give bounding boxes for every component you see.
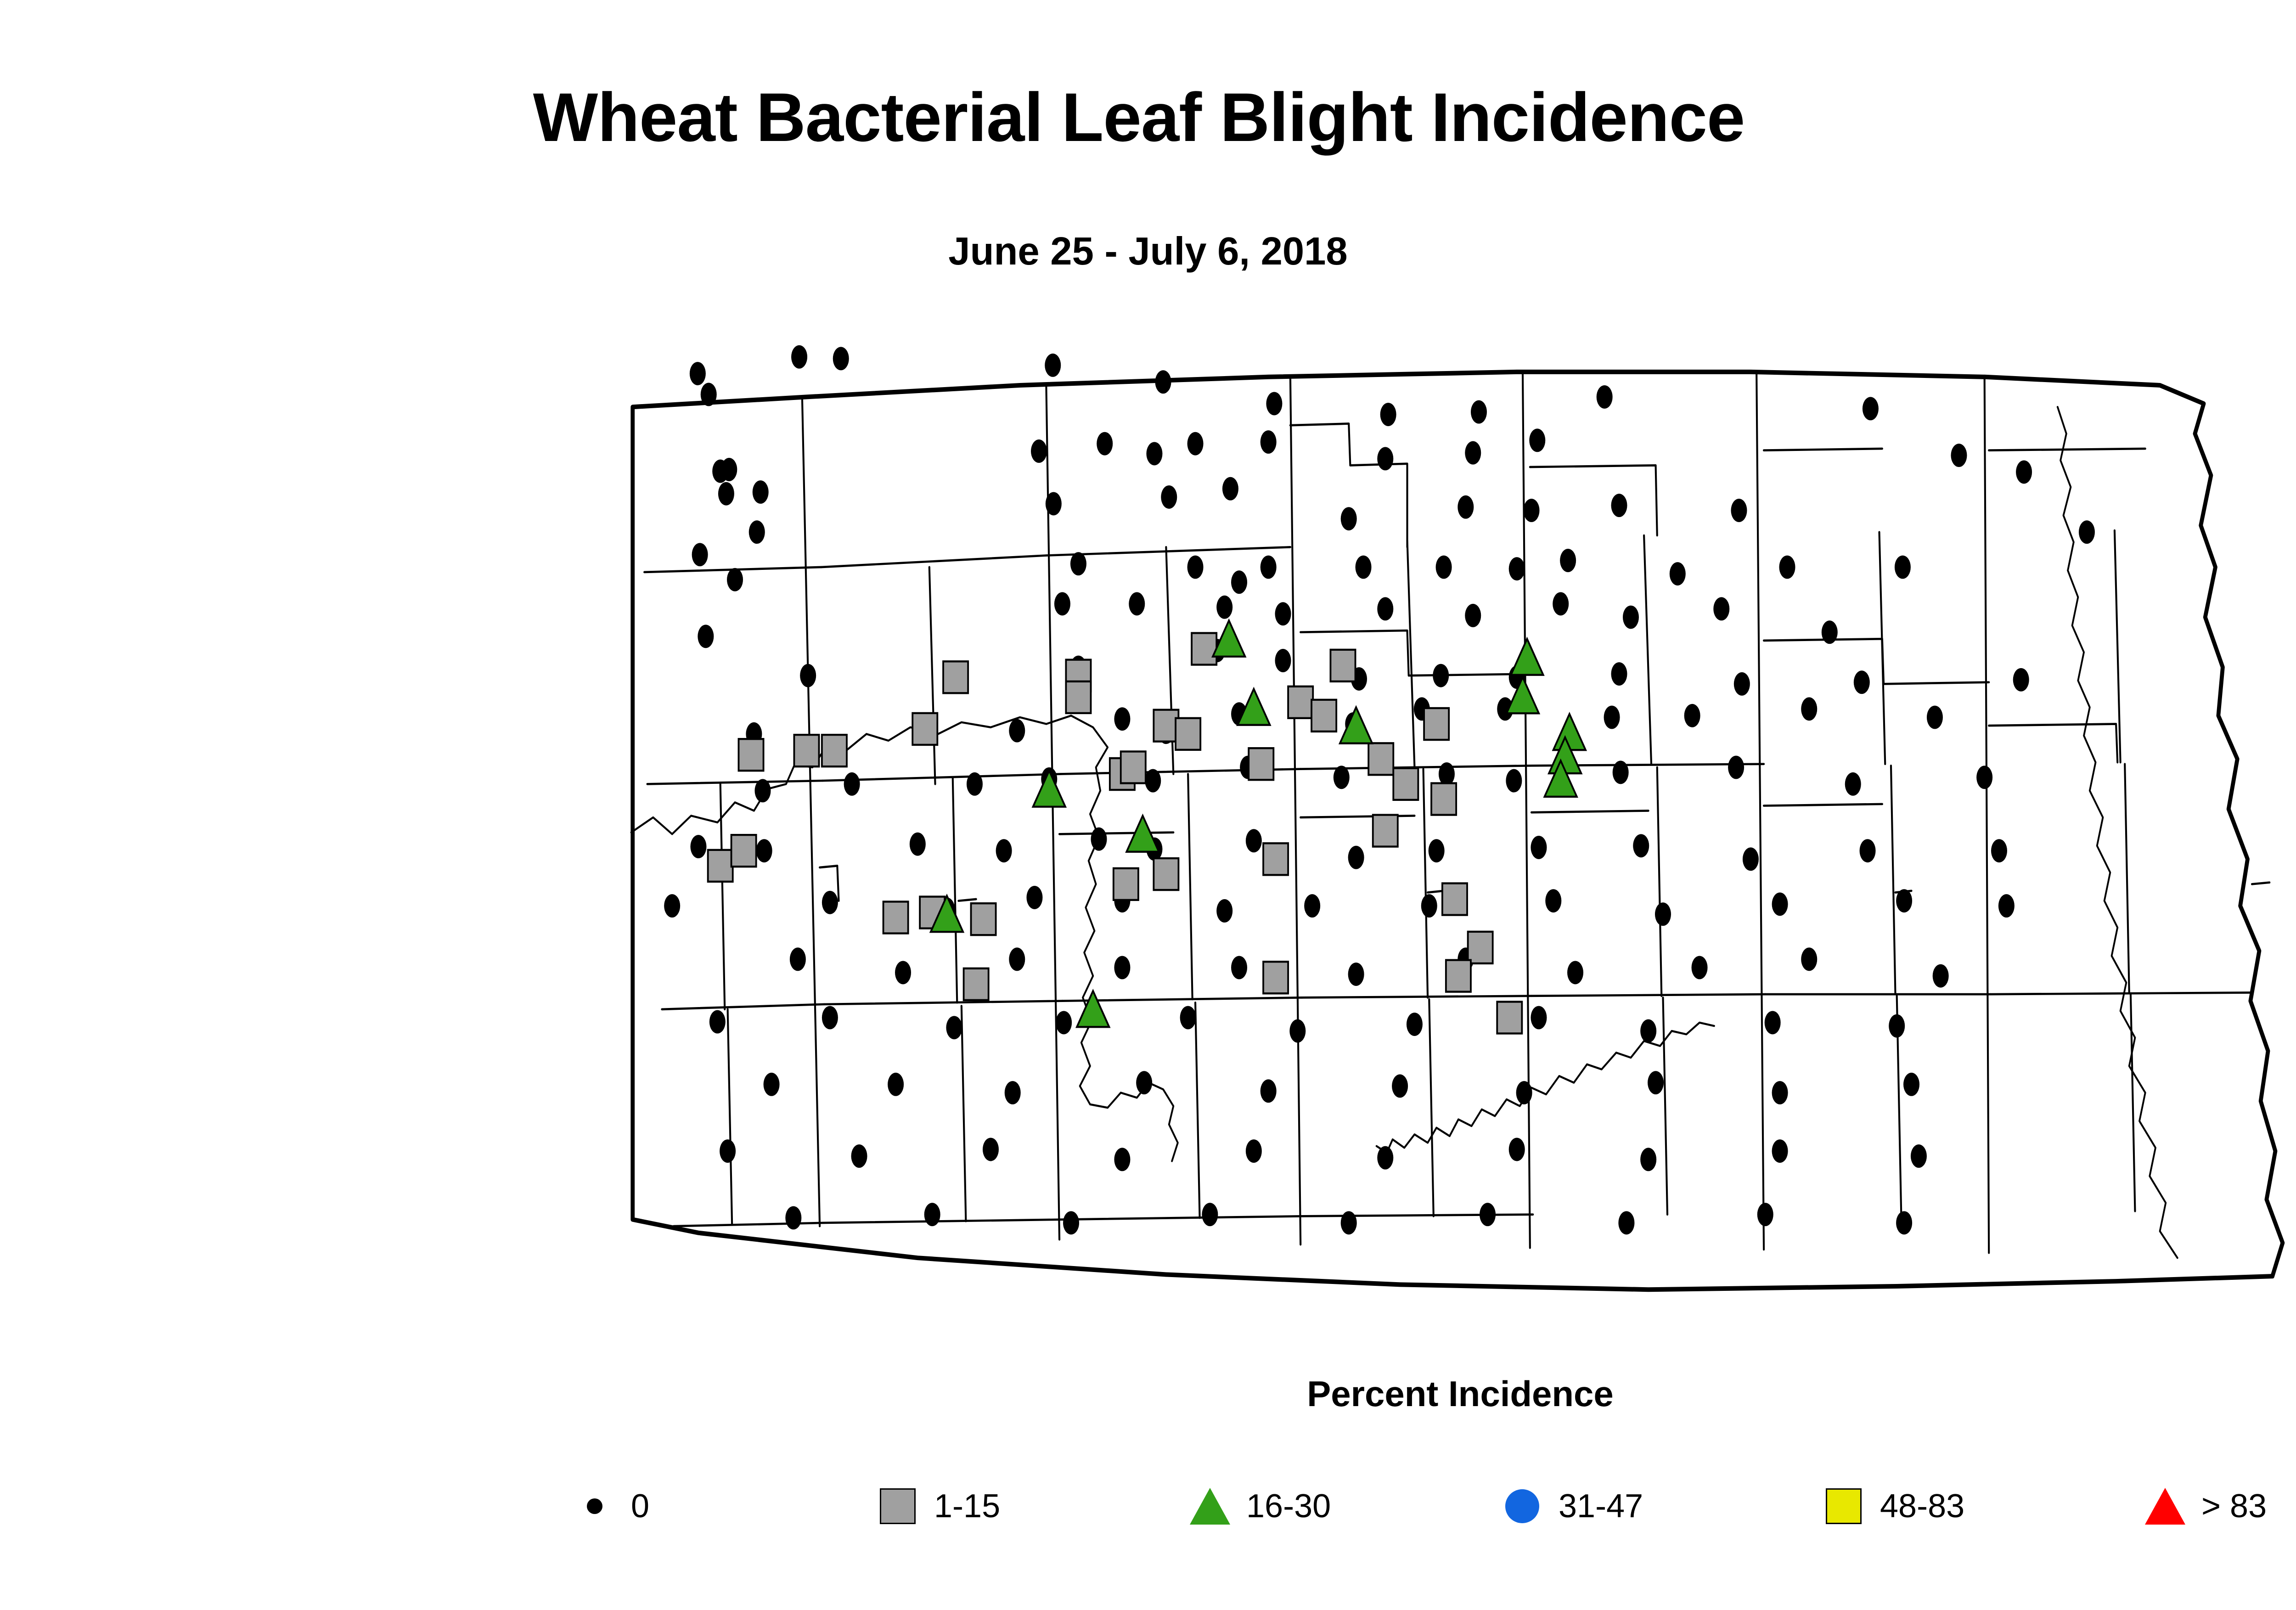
- marker-115-200: [971, 903, 996, 935]
- marker-0-146: [1005, 1081, 1021, 1104]
- marker-0-79: [1684, 704, 1700, 727]
- marker-0-125: [1114, 956, 1130, 980]
- legend-symbol: [1818, 1488, 1869, 1524]
- marker-0-119: [1772, 893, 1788, 916]
- marker-0-88: [1334, 766, 1350, 789]
- marker-115-204: [1263, 962, 1288, 993]
- marker-0-105: [1633, 834, 1649, 857]
- marker-0-44: [1560, 549, 1576, 572]
- marker-0-29: [1222, 477, 1238, 501]
- marker-0-25: [692, 543, 708, 566]
- legend-label: 1-15: [934, 1487, 1000, 1525]
- legend-symbol: [2140, 1488, 2190, 1525]
- marker-0-19: [1261, 430, 1277, 454]
- marker-0-96: [756, 839, 772, 862]
- marker-0-163: [1911, 1144, 1927, 1168]
- marker-0-92: [1728, 756, 1744, 779]
- marker-0-7: [753, 480, 769, 504]
- marker-0-118: [1655, 902, 1671, 926]
- marker-0-140: [1531, 1006, 1547, 1030]
- marker-0-58: [1822, 620, 1838, 644]
- marker-0-153: [1903, 1073, 1919, 1096]
- marker-0-12: [1471, 400, 1487, 424]
- marker-0-134: [822, 1006, 838, 1030]
- marker-0-40: [1261, 556, 1277, 579]
- marker-0-30: [1341, 507, 1357, 530]
- marker-0-97: [910, 833, 926, 856]
- marker-0-121: [1998, 894, 2015, 918]
- marker-0-127: [1348, 963, 1364, 986]
- legend: 01-1516-3031-4748-83> 83: [569, 1465, 2296, 1557]
- marker-115-189: [1249, 748, 1273, 780]
- marker-0-81: [1927, 706, 1943, 729]
- marker-0-39: [1231, 570, 1247, 594]
- marker-0-145: [888, 1073, 904, 1096]
- marker-115-206: [964, 968, 989, 1000]
- legend-circle-icon: [1505, 1489, 1539, 1523]
- marker-0-10: [1266, 392, 1282, 416]
- marker-0-55: [1553, 592, 1569, 616]
- marker-0-155: [851, 1144, 867, 1168]
- legend-label: 16-30: [1246, 1487, 1331, 1525]
- legend-symbol: [1497, 1489, 1548, 1523]
- marker-0-43: [1509, 557, 1525, 580]
- legend-item-4883[interactable]: 48-83: [1818, 1465, 1964, 1548]
- marker-0-171: [1757, 1203, 1773, 1226]
- marker-0-112: [1026, 886, 1042, 909]
- marker-0-156: [983, 1138, 999, 1161]
- marker-0-6: [718, 482, 734, 506]
- marker-115-178: [912, 713, 937, 745]
- legend-label: 31-47: [1559, 1487, 1643, 1525]
- legend-item-3147[interactable]: 31-47: [1497, 1465, 1643, 1548]
- marker-0-68: [1854, 670, 1870, 694]
- marker-0-84: [967, 772, 983, 796]
- marker-0-24: [2016, 460, 2032, 484]
- marker-0-149: [1392, 1075, 1408, 1098]
- marker-0-154: [720, 1139, 736, 1163]
- marker-0-158: [1246, 1139, 1262, 1163]
- marker-0-168: [1341, 1211, 1357, 1234]
- marker-0-35: [2079, 520, 2095, 544]
- marker-0-51: [1216, 596, 1232, 619]
- marker-0-67: [1734, 672, 1750, 696]
- marker-0-137: [1180, 1006, 1196, 1030]
- marker-0-16: [1097, 432, 1113, 456]
- marker-0-141: [1640, 1019, 1656, 1043]
- state-outline-group: [633, 372, 2283, 1289]
- marker-0-123: [895, 961, 911, 984]
- legend-symbol: [569, 1498, 620, 1514]
- marker-115-184: [738, 739, 763, 771]
- marker-0-71: [1009, 719, 1025, 743]
- page-subtitle: June 25 - July 6, 2018: [0, 232, 2296, 271]
- marker-0-23: [1951, 444, 1967, 467]
- legend-circle-icon: [587, 1498, 602, 1514]
- marker-0-170: [1618, 1211, 1634, 1234]
- marker-0-34: [1731, 499, 1747, 522]
- marker-0-78: [1604, 706, 1620, 729]
- marker-0-164: [785, 1206, 801, 1230]
- marker-0-21: [1465, 441, 1481, 465]
- marker-0-83: [844, 772, 860, 796]
- marker-0-82: [754, 779, 771, 802]
- marker-0-9: [1155, 370, 1171, 394]
- marker-0-102: [1348, 846, 1364, 869]
- marker-0-49: [1054, 592, 1070, 616]
- marker-0-150: [1516, 1081, 1532, 1104]
- marker-0-143: [1889, 1014, 1905, 1038]
- marker-0-33: [1611, 494, 1627, 517]
- marker-115-195: [1154, 858, 1178, 890]
- marker-0-114: [1216, 899, 1232, 923]
- marker-0-124: [1009, 947, 1025, 971]
- map-svg: [611, 317, 2291, 1318]
- marker-0-104: [1531, 836, 1547, 859]
- marker-0-80: [1801, 697, 1817, 721]
- marker-0-42: [1436, 556, 1452, 579]
- marker-0-120: [1896, 889, 1912, 912]
- marker-115-196: [1263, 843, 1288, 875]
- marker-0-2: [833, 347, 849, 370]
- marker-0-64: [1433, 664, 1449, 687]
- marker-115-176: [1066, 681, 1091, 713]
- marker-0-18: [1187, 432, 1204, 456]
- marker-0-72: [1114, 707, 1130, 731]
- marker-0-167: [1202, 1203, 1218, 1226]
- marker-0-46: [1779, 556, 1795, 579]
- marker-115-174: [943, 661, 968, 693]
- marker-115-205: [732, 835, 756, 867]
- marker-0-93: [1845, 772, 1861, 796]
- marker-0-130: [1692, 956, 1708, 980]
- county-boundary-61: [2252, 883, 2269, 884]
- marker-0-142: [1765, 1011, 1781, 1034]
- marker-0-107: [1860, 839, 1876, 862]
- legend-label: 48-83: [1880, 1487, 1964, 1525]
- legend-triangle-icon: [2145, 1488, 2185, 1525]
- marker-0-38: [1187, 556, 1204, 579]
- marker-0-172: [1896, 1211, 1912, 1234]
- marker-0-160: [1509, 1138, 1525, 1161]
- legend-label: > 83: [2201, 1487, 2267, 1525]
- marker-115-207: [1497, 1002, 1522, 1033]
- marker-0-108: [1991, 839, 2007, 862]
- legend-item-83[interactable]: > 83: [2140, 1465, 2267, 1548]
- marker-0-162: [1772, 1139, 1788, 1163]
- marker-0-131: [1801, 947, 1817, 971]
- marker-0-129: [1567, 961, 1583, 984]
- marker-0-8: [1045, 354, 1061, 377]
- marker-0-56: [1623, 606, 1639, 629]
- legend-label: 0: [631, 1487, 649, 1525]
- marker-115-201: [1442, 884, 1467, 915]
- marker-0-133: [709, 1010, 726, 1034]
- marker-0-110: [822, 891, 838, 914]
- marker-0-148: [1261, 1079, 1277, 1103]
- marker-115-188: [1121, 751, 1146, 783]
- marker-0-1: [791, 345, 807, 369]
- marker-0-166: [1063, 1211, 1079, 1234]
- marker-115-191: [1393, 768, 1418, 800]
- marker-0-165: [924, 1203, 940, 1226]
- marker-115-190: [1368, 743, 1393, 775]
- marker-0-90: [1506, 769, 1522, 793]
- marker-0-122: [790, 947, 806, 971]
- marker-0-48: [698, 625, 714, 648]
- marker-0-147: [1136, 1071, 1152, 1094]
- marker-0-94: [1976, 766, 1992, 789]
- marker-115-186: [822, 735, 847, 766]
- marker-0-15: [1031, 439, 1047, 463]
- marker-0-27: [1046, 492, 1062, 516]
- marker-0-0: [690, 362, 706, 385]
- marker-115-182: [1311, 700, 1336, 732]
- marker-0-139: [1407, 1013, 1423, 1036]
- marker-0-138: [1289, 1019, 1306, 1043]
- north-dakota-map: [611, 317, 2291, 1318]
- marker-0-91: [1613, 760, 1629, 784]
- marker-0-152: [1772, 1081, 1788, 1104]
- marker-115-202: [1468, 932, 1493, 963]
- legend-item-1630[interactable]: 16-30: [1185, 1465, 1331, 1548]
- marker-0-109: [664, 894, 680, 918]
- state-boundary: [633, 372, 2283, 1289]
- marker-0-47: [1895, 556, 1911, 579]
- marker-0-5: [721, 458, 737, 481]
- marker-0-66: [1611, 662, 1627, 686]
- marker-0-69: [2013, 668, 2029, 692]
- marker-115-185: [794, 735, 819, 766]
- marker-115-180: [1176, 718, 1200, 750]
- marker-0-41: [1356, 556, 1372, 579]
- marker-0-98: [996, 839, 1012, 862]
- marker-0-13: [1597, 385, 1613, 409]
- marker-0-86: [1145, 769, 1161, 793]
- marker-0-62: [1275, 649, 1291, 672]
- marker-0-26: [749, 520, 765, 544]
- marker-0-151: [1648, 1071, 1664, 1094]
- marker-0-52: [1275, 602, 1291, 625]
- marker-0-161: [1640, 1148, 1656, 1171]
- marker-0-89: [1439, 762, 1455, 786]
- page-title: Wheat Bacterial Leaf Blight Incidence: [0, 83, 2278, 152]
- marker-0-45: [1670, 562, 1686, 585]
- marker-0-136: [1056, 1011, 1072, 1034]
- marker-0-103: [1429, 839, 1445, 862]
- marker-115-198: [884, 901, 908, 933]
- map-page: Wheat Bacterial Leaf Blight Incidence Ju…: [0, 0, 2296, 1610]
- marker-0-17: [1146, 442, 1162, 466]
- legend-item-0[interactable]: 0: [569, 1465, 649, 1548]
- marker-0-99: [1091, 828, 1107, 851]
- legend-square-icon: [1826, 1488, 1862, 1524]
- legend-triangle-icon: [1190, 1488, 1230, 1525]
- legend-title: Percent Incidence: [0, 1373, 2296, 1415]
- marker-0-3: [701, 383, 717, 406]
- marker-115-173: [1192, 633, 1216, 665]
- marker-115-193: [1373, 815, 1398, 847]
- marker-0-157: [1114, 1148, 1130, 1171]
- marker-0-101: [1246, 829, 1262, 852]
- marker-0-53: [1377, 597, 1393, 620]
- marker-0-95: [690, 835, 706, 858]
- marker-0-169: [1480, 1203, 1496, 1226]
- marker-115-203: [1446, 960, 1471, 992]
- marker-0-57: [1713, 597, 1729, 620]
- marker-0-50: [1129, 592, 1145, 616]
- marker-0-144: [764, 1073, 780, 1096]
- marker-0-159: [1377, 1146, 1393, 1170]
- marker-115-181: [1288, 687, 1313, 718]
- marker-0-54: [1465, 604, 1481, 627]
- marker-115-194: [1114, 868, 1138, 900]
- marker-0-28: [1161, 485, 1177, 509]
- marker-0-135: [946, 1016, 962, 1039]
- legend-square-icon: [880, 1488, 916, 1524]
- marker-0-14: [1863, 397, 1879, 420]
- marker-115-192: [1431, 783, 1456, 815]
- marker-0-11: [1380, 403, 1396, 426]
- marker-115-183: [1424, 708, 1449, 740]
- marker-0-106: [1743, 847, 1759, 871]
- marker-115-197: [708, 850, 733, 882]
- marker-0-36: [727, 568, 743, 591]
- marker-0-59: [800, 664, 816, 687]
- marker-0-126: [1231, 956, 1247, 980]
- marker-115-177: [1330, 650, 1355, 681]
- marker-0-115: [1304, 894, 1320, 918]
- marker-0-116: [1421, 894, 1437, 918]
- marker-0-20: [1377, 447, 1393, 470]
- marker-0-31: [1458, 495, 1474, 519]
- marker-0-132: [1933, 964, 1949, 988]
- legend-symbol: [1185, 1488, 1235, 1525]
- legend-symbol: [872, 1488, 923, 1524]
- marker-0-37: [1070, 552, 1086, 575]
- marker-0-117: [1545, 889, 1561, 912]
- marker-0-32: [1524, 499, 1540, 522]
- marker-0-22: [1529, 428, 1545, 452]
- legend-item-115[interactable]: 1-15: [872, 1465, 1000, 1548]
